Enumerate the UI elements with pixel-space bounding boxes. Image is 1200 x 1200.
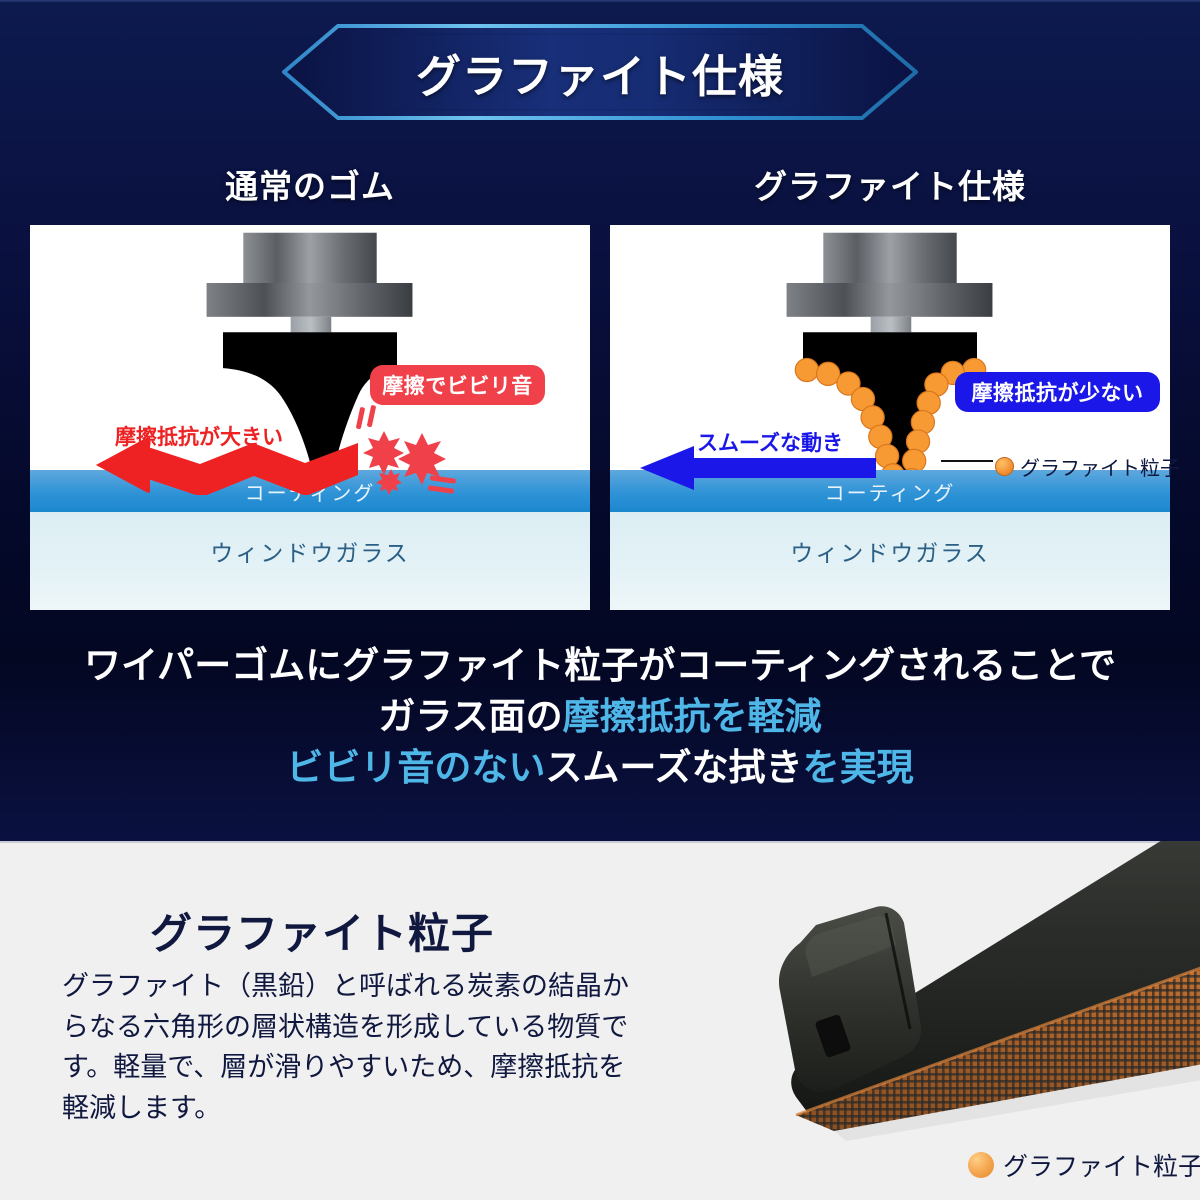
top-section: グラファイト仕様 通常のゴム グラファイト仕様	[0, 0, 1200, 841]
summary-line-2: ガラス面の摩擦抵抗を軽減	[0, 691, 1200, 742]
banner-title: グラファイト仕様	[282, 24, 918, 120]
left-diagram-panel: コーティング ウィンドウガラス	[30, 225, 590, 610]
low-friction-badge: 摩擦抵抗が少ない	[955, 372, 1160, 412]
header-banner: グラファイト仕様	[282, 24, 918, 120]
callout-leader-line	[941, 460, 993, 462]
right-diagram-panel: コーティング ウィンドウガラス	[610, 225, 1170, 610]
summary-line-2a: ガラス面の	[378, 696, 562, 737]
graphite-particle-callout: グラファイト粒子	[995, 452, 1180, 481]
graphite-dot-icon	[995, 457, 1014, 476]
legend-dot-icon	[968, 1152, 994, 1178]
left-panel-heading: 通常のゴム	[30, 160, 590, 208]
wiper-blade-photo	[620, 841, 1200, 1151]
friction-label-left: 摩擦抵抗が大きい	[115, 421, 283, 451]
infographic-page: グラファイト仕様 通常のゴム グラファイト仕様	[0, 0, 1200, 1200]
noise-spark-icon	[352, 405, 462, 500]
smooth-label-right: スムーズな動き	[697, 427, 843, 457]
summary-line-3: ビビリ音のないスムーズな拭きを実現	[0, 742, 1200, 793]
glass-label-left: ウィンドウガラス	[30, 534, 590, 568]
glass-label-right: ウィンドウガラス	[610, 534, 1170, 568]
legend-label: グラファイト粒子	[1003, 1147, 1200, 1183]
top-hairline	[0, 0, 1200, 3]
graphite-callout-label: グラファイト粒子	[1020, 452, 1180, 481]
detail-title: グラファイト粒子	[150, 900, 494, 961]
summary-line-1: ワイパーゴムにグラファイト粒子がコーティングされることで	[0, 640, 1200, 691]
glass-layer-right: ウィンドウガラス	[610, 512, 1170, 610]
summary-line-3b: スムーズな拭き	[545, 747, 802, 788]
summary-line-3a: ビビリ音のない	[286, 747, 545, 788]
detail-body: グラファイト（黒鉛）と呼ばれる炭素の結晶からなる六角形の層状構造を形成している物…	[62, 966, 632, 1128]
summary-line-2b: 摩擦抵抗を軽減	[563, 696, 822, 737]
summary-copy: ワイパーゴムにグラファイト粒子がコーティングされることで ガラス面の摩擦抵抗を軽…	[0, 640, 1200, 793]
photo-legend: グラファイト粒子	[968, 1147, 1200, 1183]
glass-layer-left: ウィンドウガラス	[30, 512, 590, 610]
summary-line-3c: を実現	[803, 747, 914, 788]
noise-badge: 摩擦でビビリ音	[370, 365, 545, 405]
right-panel-heading: グラファイト仕様	[610, 160, 1170, 208]
